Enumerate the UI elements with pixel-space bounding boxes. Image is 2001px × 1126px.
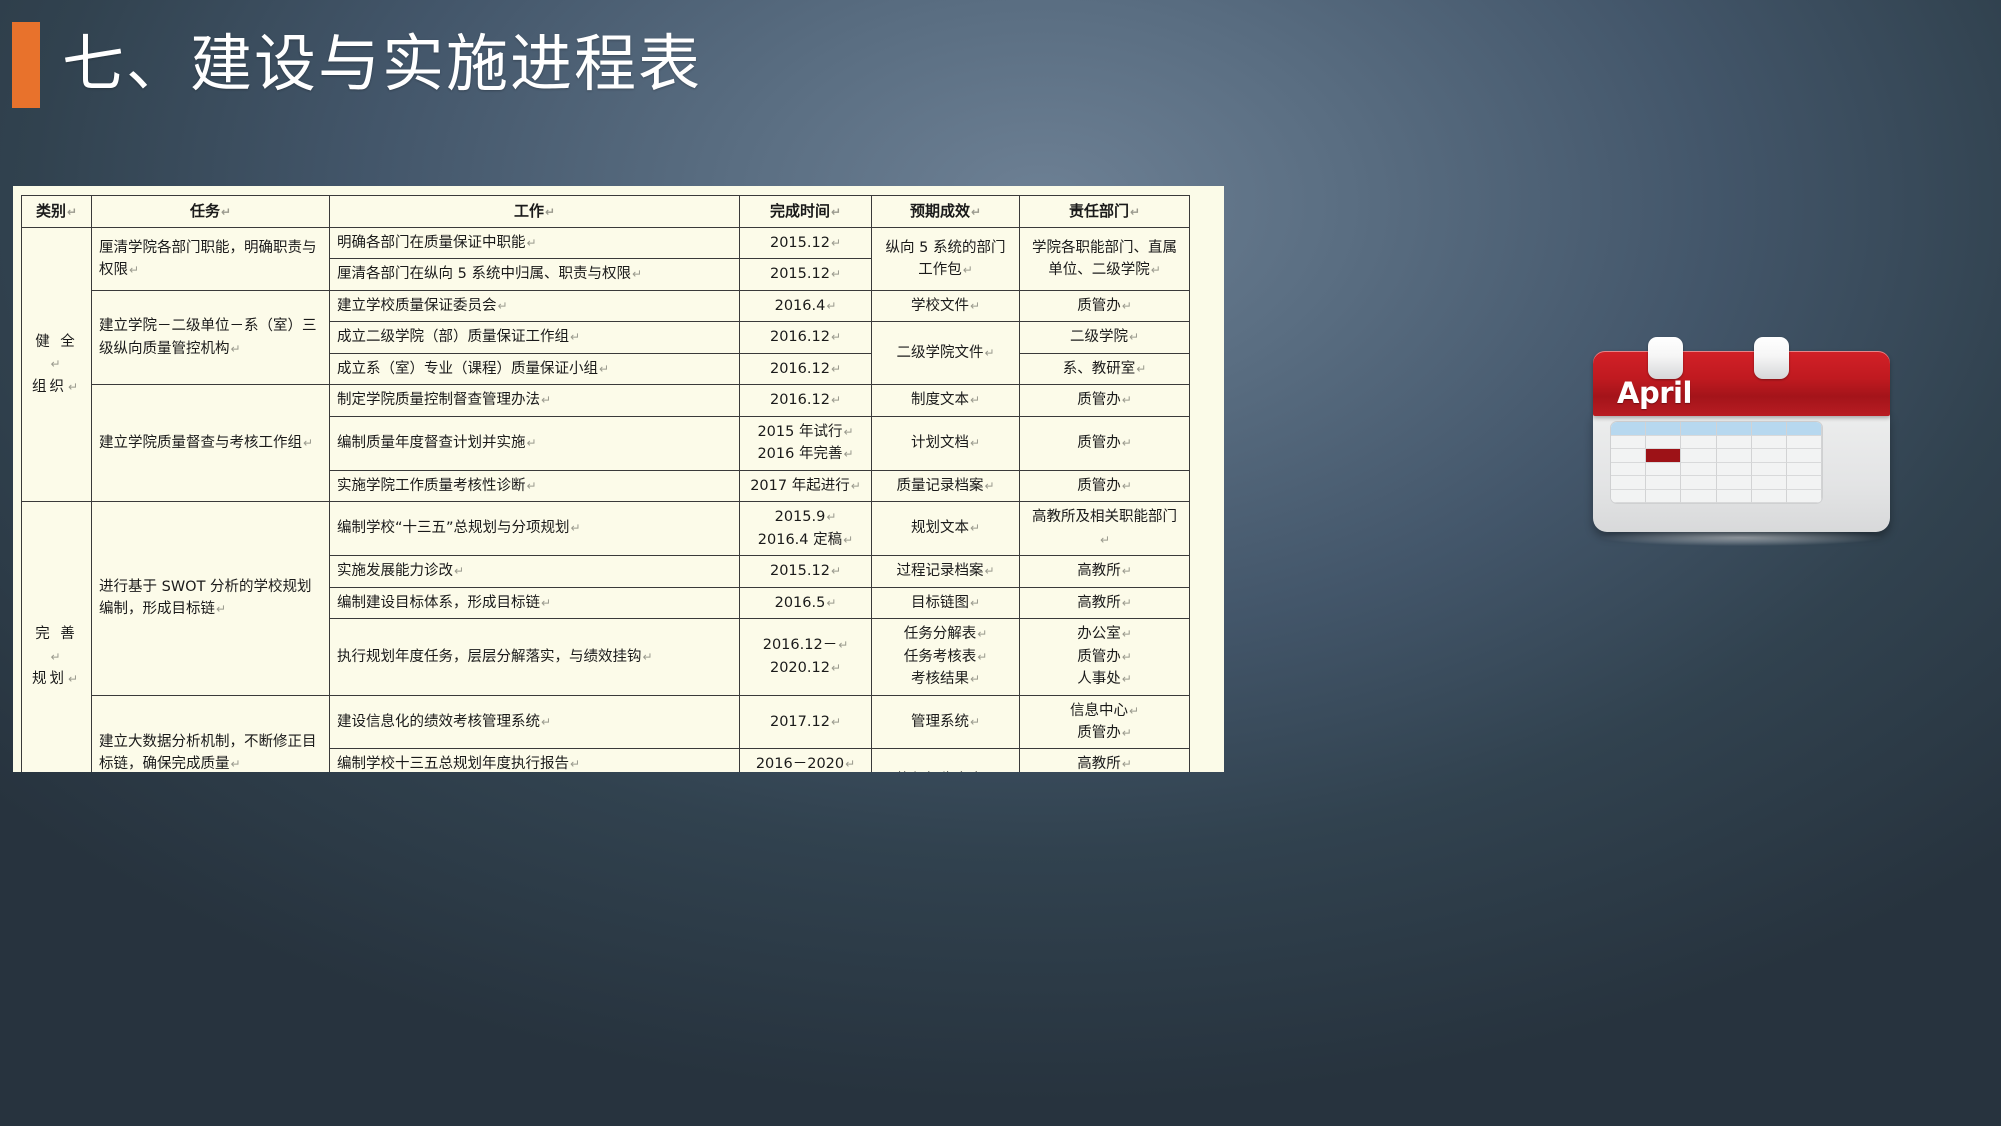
calendar-grid [1610,421,1823,504]
calendar-day-cell [1646,476,1681,490]
cell-expected-effect: 纵向 5 系统的部门工作包↵ [872,228,1020,291]
pilcrow-icon: ↵ [830,267,841,281]
pilcrow-icon: ↵ [850,479,861,493]
pilcrow-icon: ↵ [830,393,841,407]
cell-completion-time: 2015.9↵2016.4 定稿↵ [740,502,872,556]
table-row: 建立学院－二级单位－系（室）三级纵向质量管控机构↵建立学校质量保证委员会↵201… [22,290,1190,321]
cell-responsible-dept: 质管办↵ [1020,385,1190,416]
pilcrow-icon: ↵ [1121,436,1132,450]
page-title: 七、建设与实施进程表 [62,22,702,106]
cell-work: 编制学校十三五总规划年度执行报告↵ [330,749,740,772]
schedule-table-panel: 类别↵ 任务↵ 工作↵ 完成时间↵ 预期成效↵ 责任部门↵ 健 全↵组织↵厘清学… [13,186,1224,772]
cell-work: 建立学校质量保证委员会↵ [330,290,740,321]
calendar-day-cell [1646,490,1681,504]
pilcrow-icon: ↵ [1121,479,1132,493]
cell-expected-effect: 过程记录档案↵ [872,556,1020,587]
calendar-day-cell [1611,490,1646,504]
cell-task: 进行基于 SWOT 分析的学校规划编制，形成目标链↵ [92,502,330,695]
pilcrow-icon: ↵ [842,425,853,439]
cell-expected-effect: 质量记录档案↵ [872,470,1020,501]
pilcrow-icon: ↵ [540,596,551,610]
pilcrow-icon: ↵ [830,362,841,376]
pilcrow-icon: ↵ [302,436,313,450]
pilcrow-icon: ↵ [825,299,836,313]
pilcrow-icon: ↵ [842,533,853,547]
pilcrow-icon: ↵ [642,650,653,664]
pilcrow-icon: ↵ [830,715,841,729]
calendar-day-cell [1611,449,1646,463]
cell-responsible-dept: 高教所↵ [1020,556,1190,587]
pilcrow-icon: ↵ [962,263,973,277]
pilcrow-icon: ↵ [1121,650,1132,664]
pilcrow-icon: ↵ [830,661,841,675]
cell-responsible-dept: 高教所↵ [1020,587,1190,618]
pilcrow-icon: ↵ [1121,672,1132,686]
cell-expected-effect: 管理系统↵ [872,695,1020,749]
pilcrow-icon: ↵ [1135,362,1146,376]
calendar-day-cell [1681,436,1716,450]
pilcrow-icon: ↵ [66,205,77,219]
pilcrow-icon: ↵ [230,757,241,771]
pilcrow-icon: ↵ [569,757,580,771]
pilcrow-icon: ↵ [526,479,537,493]
cell-work: 成立系（室）专业（课程）质量保证小组↵ [330,353,740,384]
cell-responsible-dept: 办公室↵质管办↵人事处↵ [1020,619,1190,695]
pilcrow-icon: ↵ [1099,533,1110,547]
column-header-work: 工作↵ [330,196,740,228]
calendar-day-cell [1646,436,1681,450]
calendar-icon: April [1593,337,1890,600]
cell-expected-effect: 执行报告文本↵ [872,749,1020,772]
calendar-month-label: April [1617,376,1692,410]
calendar-day-cell [1787,436,1822,450]
cell-expected-effect: 二级学院文件↵ [872,322,1020,385]
calendar-day-cell [1787,463,1822,477]
cell-work: 制定学院质量控制督查管理办法↵ [330,385,740,416]
pilcrow-icon: ↵ [540,715,551,729]
cell-completion-time: 2017.12↵ [740,695,872,749]
calendar-day-cell [1681,476,1716,490]
pilcrow-icon: ↵ [983,479,994,493]
pilcrow-icon: ↵ [49,357,63,371]
pilcrow-icon: ↵ [49,650,63,664]
cell-responsible-dept: 二级学院↵ [1020,322,1190,353]
cell-work: 建设信息化的绩效考核管理系统↵ [330,695,740,749]
pilcrow-icon: ↵ [844,757,855,771]
pilcrow-icon: ↵ [67,672,81,686]
cell-completion-time: 2017 年起进行↵ [740,470,872,501]
column-header-time: 完成时间↵ [740,196,872,228]
cell-work: 编制建设目标体系，形成目标链↵ [330,587,740,618]
title-accent-bar [12,22,40,108]
calendar-day-cell [1681,449,1716,463]
cell-responsible-dept: 质管办↵ [1020,470,1190,501]
calendar-day-cell [1717,463,1752,477]
calendar-day-cell [1681,463,1716,477]
pilcrow-icon: ↵ [1121,596,1132,610]
cell-work: 编制质量年度督查计划并实施↵ [330,416,740,470]
pilcrow-icon: ↵ [983,346,994,360]
pilcrow-icon: ↵ [970,205,981,219]
pilcrow-icon: ↵ [215,602,226,616]
pilcrow-icon: ↵ [837,638,848,652]
calendar-day-cell [1681,490,1716,504]
cell-completion-time: 2015 年试行↵2016 年完善↵ [740,416,872,470]
pilcrow-icon: ↵ [1121,299,1132,313]
pilcrow-icon: ↵ [969,393,980,407]
pilcrow-icon: ↵ [67,380,81,394]
cell-completion-time: 2016.12－↵2020.12↵ [740,619,872,695]
cell-expected-effect: 计划文档↵ [872,416,1020,470]
pilcrow-icon: ↵ [220,205,231,219]
pilcrow-icon: ↵ [976,650,987,664]
cell-completion-time: 2015.12↵ [740,228,872,259]
calendar-day-cell [1752,490,1787,504]
pilcrow-icon: ↵ [830,564,841,578]
pilcrow-icon: ↵ [825,510,836,524]
pilcrow-icon: ↵ [825,596,836,610]
cell-category: 完 善↵规划↵ [22,502,92,772]
pilcrow-icon: ↵ [1128,704,1139,718]
pilcrow-icon: ↵ [598,362,609,376]
pilcrow-icon: ↵ [1121,726,1132,740]
cell-work: 厘清各部门在纵向 5 系统中归属、职责与权限↵ [330,259,740,290]
cell-task: 厘清学院各部门职能，明确职责与权限↵ [92,228,330,291]
calendar-body [1593,414,1890,532]
pilcrow-icon: ↵ [1121,564,1132,578]
cell-responsible-dept: 信息中心↵质管办↵ [1020,695,1190,749]
cell-work: 执行规划年度任务，层层分解落实，与绩效挂钩↵ [330,619,740,695]
calendar-day-cell [1752,476,1787,490]
pilcrow-icon: ↵ [1129,205,1140,219]
pilcrow-icon: ↵ [230,342,241,356]
pilcrow-icon: ↵ [969,715,980,729]
cell-expected-effect: 任务分解表↵任务考核表↵考核结果↵ [872,619,1020,695]
cell-responsible-dept: 系、教研室↵ [1020,353,1190,384]
pilcrow-icon: ↵ [1121,393,1132,407]
pilcrow-icon: ↵ [128,263,139,277]
pilcrow-icon: ↵ [983,564,994,578]
cell-responsible-dept: 质管办↵ [1020,290,1190,321]
column-header-category: 类别↵ [22,196,92,228]
pilcrow-icon: ↵ [1150,263,1161,277]
schedule-table: 类别↵ 任务↵ 工作↵ 完成时间↵ 预期成效↵ 责任部门↵ 健 全↵组织↵厘清学… [21,195,1190,772]
pilcrow-icon: ↵ [1121,627,1132,641]
calendar-day-cell [1717,476,1752,490]
pilcrow-icon: ↵ [570,521,581,535]
calendar-ring-left [1648,337,1683,379]
calendar-day-cell [1752,436,1787,450]
pilcrow-icon: ↵ [497,299,508,313]
cell-completion-time: 2015.12↵ [740,259,872,290]
calendar-ring-right [1754,337,1789,379]
calendar-day-cell [1787,476,1822,490]
calendar-day-cell [1717,449,1752,463]
cell-completion-time: 2015.12↵ [740,556,872,587]
column-header-task: 任务↵ [92,196,330,228]
title-area: 七、建设与实施进程表 [0,22,702,108]
cell-work: 编制学校“十三五”总规划与分项规划↵ [330,502,740,556]
cell-expected-effect: 制度文本↵ [872,385,1020,416]
calendar-weekday-cell [1717,422,1752,436]
pilcrow-icon: ↵ [526,436,537,450]
pilcrow-icon: ↵ [569,330,580,344]
pilcrow-icon: ↵ [1121,757,1132,771]
cell-expected-effect: 学校文件↵ [872,290,1020,321]
pilcrow-icon: ↵ [969,436,980,450]
pilcrow-icon: ↵ [830,236,841,250]
calendar-today-cell [1646,449,1681,463]
table-row: 健 全↵组织↵厘清学院各部门职能，明确职责与权限↵明确各部门在质量保证中职能↵2… [22,228,1190,259]
cell-work: 实施发展能力诊改↵ [330,556,740,587]
cell-work: 明确各部门在质量保证中职能↵ [330,228,740,259]
pilcrow-icon: ↵ [631,267,642,281]
pilcrow-icon: ↵ [1128,330,1139,344]
pilcrow-icon: ↵ [540,393,551,407]
cell-category: 健 全↵组织↵ [22,228,92,502]
cell-work: 成立二级学院（部）质量保证工作组↵ [330,322,740,353]
calendar-day-cell [1752,463,1787,477]
cell-completion-time: 2016.12↵ [740,385,872,416]
column-header-dept: 责任部门↵ [1020,196,1190,228]
calendar-day-cell [1611,463,1646,477]
table-row: 完 善↵规划↵进行基于 SWOT 分析的学校规划编制，形成目标链↵编制学校“十三… [22,502,1190,556]
calendar-weekday-cell [1787,422,1822,436]
pilcrow-icon: ↵ [544,205,555,219]
cell-responsible-dept: 高教所↵ [1020,749,1190,772]
cell-responsible-dept: 高教所及相关职能部门↵ [1020,502,1190,556]
pilcrow-icon: ↵ [969,596,980,610]
calendar-rings [1593,337,1890,379]
calendar-weekday-cell [1646,422,1681,436]
calendar-weekday-cell [1752,422,1787,436]
pilcrow-icon: ↵ [453,564,464,578]
calendar-day-cell [1611,436,1646,450]
table-header-row: 类别↵ 任务↵ 工作↵ 完成时间↵ 预期成效↵ 责任部门↵ [22,196,1190,228]
table-row: 建立大数据分析机制，不断修正目标链，确保完成质量↵建设信息化的绩效考核管理系统↵… [22,695,1190,749]
pilcrow-icon: ↵ [969,299,980,313]
pilcrow-icon: ↵ [526,236,537,250]
cell-task: 建立学院质量督查与考核工作组↵ [92,385,330,502]
cell-responsible-dept: 学院各职能部门、直属单位、二级学院↵ [1020,228,1190,291]
calendar-day-cell [1717,490,1752,504]
pilcrow-icon: ↵ [969,521,980,535]
cell-responsible-dept: 质管办↵ [1020,416,1190,470]
cell-completion-time: 2016－2020↵ [740,749,872,772]
calendar-day-cell [1787,449,1822,463]
calendar-day-cell [1646,463,1681,477]
cell-completion-time: 2016.5↵ [740,587,872,618]
cell-expected-effect: 目标链图↵ [872,587,1020,618]
table-row: 建立学院质量督查与考核工作组↵制定学院质量控制督查管理办法↵2016.12↵制度… [22,385,1190,416]
cell-expected-effect: 规划文本↵ [872,502,1020,556]
pilcrow-icon: ↵ [969,672,980,686]
calendar-day-cell [1752,449,1787,463]
cell-completion-time: 2016.12↵ [740,353,872,384]
cell-task: 建立大数据分析机制，不断修正目标链，确保完成质量↵ [92,695,330,772]
pilcrow-icon: ↵ [842,447,853,461]
calendar-weekday-cell [1681,422,1716,436]
cell-task: 建立学院－二级单位－系（室）三级纵向质量管控机构↵ [92,290,330,384]
calendar-day-cell [1611,476,1646,490]
cell-work: 实施学院工作质量考核性诊断↵ [330,470,740,501]
cell-completion-time: 2016.4↵ [740,290,872,321]
schedule-table-body: 健 全↵组织↵厘清学院各部门职能，明确职责与权限↵明确各部门在质量保证中职能↵2… [22,228,1190,773]
pilcrow-icon: ↵ [830,205,841,219]
pilcrow-icon: ↵ [976,627,987,641]
calendar-weekday-cell [1611,422,1646,436]
calendar-day-cell [1717,436,1752,450]
cell-completion-time: 2016.12↵ [740,322,872,353]
pilcrow-icon: ↵ [830,330,841,344]
calendar-day-cell [1787,490,1822,504]
column-header-effect: 预期成效↵ [872,196,1020,228]
